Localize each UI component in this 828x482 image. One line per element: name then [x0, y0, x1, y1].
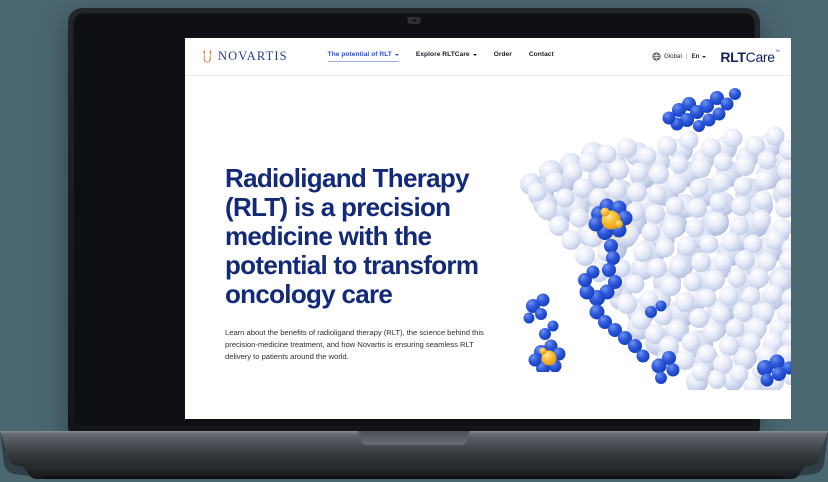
- molecule-protein-render: [501, 76, 791, 419]
- hero-section: Radioligand Therapy (RLT) is a precision…: [185, 76, 791, 419]
- locale-separator: |: [686, 53, 688, 60]
- main-navigation: The potential of RLT Explore RLTCare Ord…: [328, 51, 554, 62]
- camera-icon: [408, 17, 421, 24]
- globe-icon: [652, 52, 661, 61]
- nav-item-the-potential-of-rlt[interactable]: The potential of RLT: [328, 51, 399, 62]
- nav-item-contact[interactable]: Contact: [529, 51, 554, 62]
- chevron-down-icon: [702, 56, 706, 58]
- chevron-down-icon: [473, 54, 477, 56]
- rltcare-logo-regular: Care: [746, 49, 775, 65]
- locale-language: En: [691, 53, 699, 60]
- hero-copy-block: Radioligand Therapy (RLT) is a precision…: [225, 164, 500, 364]
- page-title: Radioligand Therapy (RLT) is a precision…: [225, 164, 500, 310]
- nav-item-explore-rltcare[interactable]: Explore RLTCare: [416, 51, 477, 62]
- nav-label: The potential of RLT: [328, 51, 392, 58]
- hero-subtitle: Learn about the benefits of radioligand …: [225, 327, 487, 364]
- nav-label: Explore RLTCare: [416, 51, 470, 58]
- nav-label: Contact: [529, 51, 554, 58]
- camera-lens-dot: [413, 19, 416, 22]
- screenshot-scene: NOVARTIS The potential of RLT Explore RL…: [0, 0, 828, 482]
- locale-region: Global: [664, 53, 682, 60]
- header-right-cluster: Global | En RLTCare™: [652, 50, 779, 64]
- novartis-flame-icon: [202, 50, 213, 63]
- locale-selector[interactable]: Global | En: [652, 52, 706, 61]
- chevron-down-icon: [395, 54, 399, 56]
- molecule-artwork-svg: [501, 76, 791, 419]
- laptop-base: [0, 428, 828, 482]
- laptop-lid: NOVARTIS The potential of RLT Explore RL…: [68, 8, 760, 432]
- novartis-wordmark: NOVARTIS: [218, 50, 288, 63]
- nav-label: Order: [494, 51, 512, 58]
- site-header: NOVARTIS The potential of RLT Explore RL…: [185, 38, 791, 76]
- novartis-brand-logo[interactable]: NOVARTIS: [202, 50, 288, 63]
- trademark-symbol: ™: [775, 49, 779, 54]
- nav-item-order[interactable]: Order: [494, 51, 512, 62]
- rltcare-product-logo[interactable]: RLTCare™: [720, 50, 779, 64]
- browser-viewport: NOVARTIS The potential of RLT Explore RL…: [185, 38, 791, 419]
- rltcare-logo-bold: RLT: [720, 49, 745, 65]
